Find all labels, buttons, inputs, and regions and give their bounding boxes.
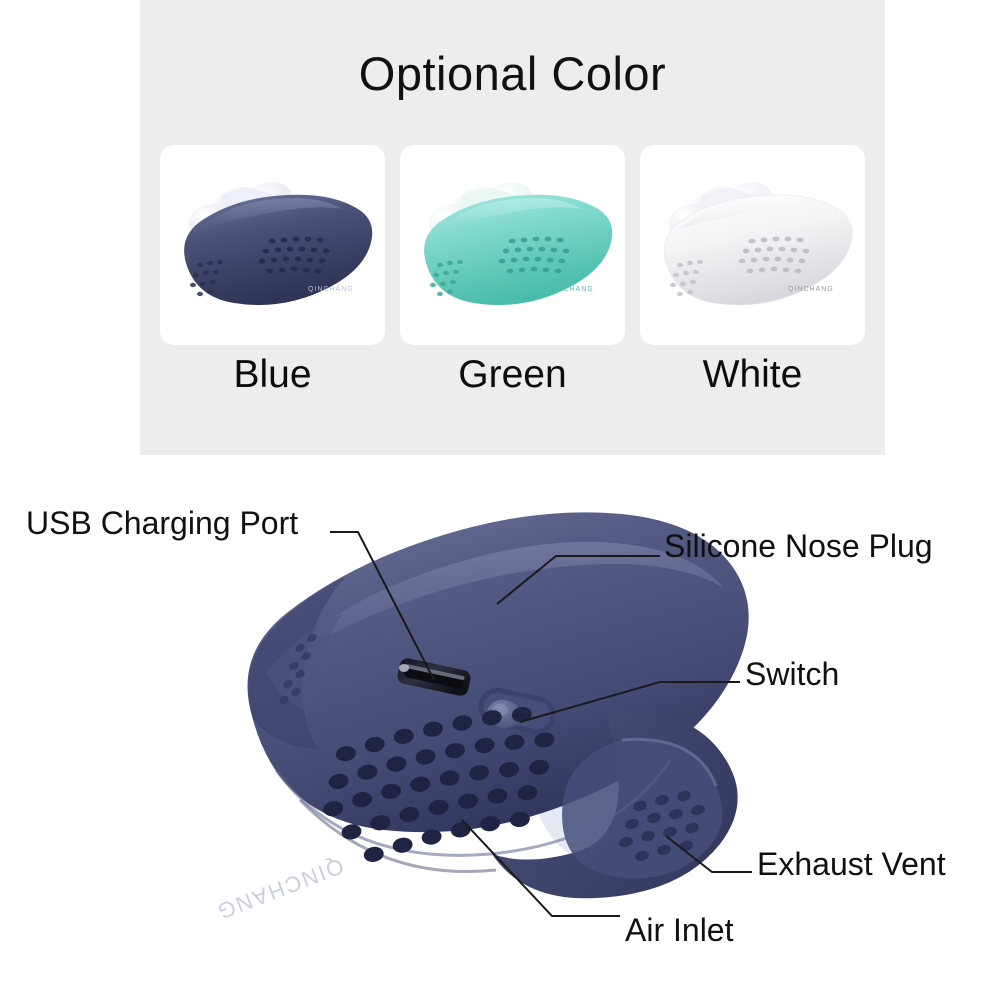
callout-label-silicone-nose-plug: Silicone Nose Plug xyxy=(664,530,933,562)
callout-label-exhaust-vent: Exhaust Vent xyxy=(757,848,946,880)
brand-text: QINCHANG xyxy=(213,853,348,925)
callout-label-air-inlet: Air Inlet xyxy=(625,914,733,946)
callout-label-usb-charging-port: USB Charging Port xyxy=(26,507,298,539)
callout-label-switch: Switch xyxy=(745,658,839,690)
